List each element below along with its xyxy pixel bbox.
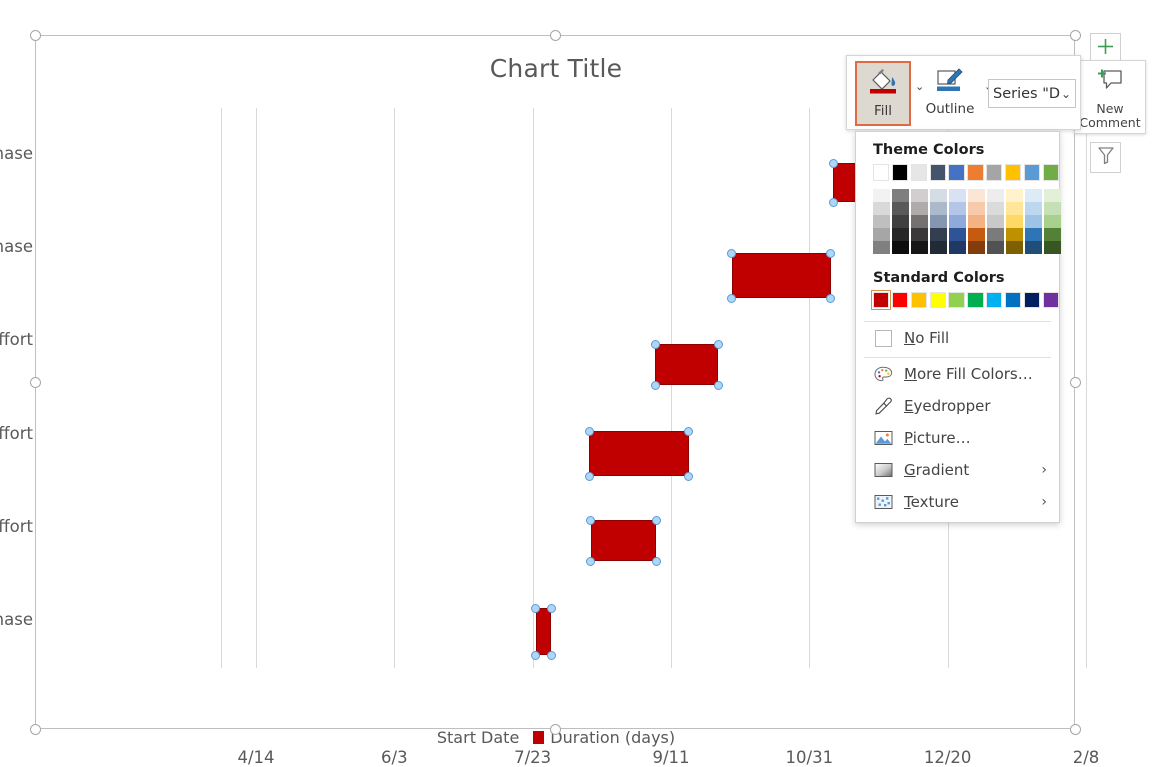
theme-tint-swatch[interactable] [1006,228,1023,241]
theme-tint-swatch[interactable] [1025,228,1042,241]
legend-entry[interactable]: Start Date [437,728,519,747]
legend-label: Start Date [437,728,519,747]
theme-tint-swatch[interactable] [949,228,966,241]
selection-handle-w[interactable] [30,377,41,388]
data-point-handle[interactable] [531,651,540,660]
theme-tint-swatch[interactable] [873,228,890,241]
new-comment-label: New Comment [1079,102,1140,130]
theme-tint-swatch[interactable] [873,189,890,202]
theme-tint-column[interactable] [930,189,947,254]
theme-tint-column[interactable] [911,189,928,254]
data-point-handle[interactable] [652,516,661,525]
data-bar[interactable] [589,431,689,476]
gridline [256,108,257,668]
data-point-handle[interactable] [651,381,660,390]
data-point-handle[interactable] [714,340,723,349]
theme-color-swatch[interactable] [1024,164,1040,181]
submenu-arrow-icon: › [1041,494,1047,510]
theme-tint-swatch[interactable] [987,202,1004,215]
value-axis-tick-label: 2/8 [1041,748,1131,767]
gridline [671,108,672,668]
theme-tint-swatch[interactable] [1006,189,1023,202]
theme-color-swatch[interactable] [1005,164,1021,181]
standard-colors-title: Standard Colors [856,254,1059,292]
theme-tint-column[interactable] [949,189,966,254]
theme-tint-swatch[interactable] [1006,202,1023,215]
standard-colors-row[interactable] [856,292,1059,313]
value-axis-tick-label: 12/20 [903,748,993,767]
chart-filter-icon [1097,146,1115,170]
value-axis-tick-label: 9/11 [626,748,716,767]
theme-color-swatch[interactable] [930,164,946,181]
series-select-value: Series "Duratio [993,86,1061,102]
theme-color-swatch[interactable] [1043,164,1059,181]
outline-pen-icon [933,66,967,97]
theme-tint-swatch[interactable] [911,189,928,202]
theme-tint-swatch[interactable] [1006,241,1023,254]
theme-tint-swatch[interactable] [911,241,928,254]
new-comment-button[interactable]: New Comment [1074,60,1146,134]
theme-tint-swatch[interactable] [892,228,909,241]
theme-tint-swatch[interactable] [1025,189,1042,202]
standard-color-swatch[interactable] [1024,292,1040,309]
theme-tint-swatch[interactable] [949,202,966,215]
theme-tint-swatch[interactable] [987,241,1004,254]
theme-colors-title: Theme Colors [856,132,1059,164]
theme-color-swatch[interactable] [892,164,908,181]
theme-tint-swatch[interactable] [892,215,909,228]
menu-item-gradient[interactable]: Gradient › [856,454,1059,486]
menu-item-picture[interactable]: Picture… [856,422,1059,454]
standard-color-swatch[interactable] [948,292,964,309]
theme-color-swatch[interactable] [986,164,1002,181]
gradient-icon [873,461,893,479]
series-select[interactable]: Series "Duratio ⌄ [988,79,1076,108]
theme-tint-column[interactable] [1025,189,1042,254]
theme-tint-column[interactable] [1044,189,1061,254]
theme-tint-swatch[interactable] [911,202,928,215]
theme-tint-swatch[interactable] [987,215,1004,228]
theme-tint-swatch[interactable] [1025,215,1042,228]
category-axis-label: Phase 2 Work Effort [0,424,33,443]
theme-tint-swatch[interactable] [930,189,947,202]
theme-tint-swatch[interactable] [1006,215,1023,228]
data-point-handle[interactable] [585,427,594,436]
data-bar[interactable] [732,253,831,298]
gridline [533,108,534,668]
menu-item-label: Picture… [904,429,971,447]
data-point-handle[interactable] [714,381,723,390]
theme-tint-swatch[interactable] [968,241,985,254]
gridline [809,108,810,668]
theme-tint-swatch[interactable] [968,202,985,215]
data-point-handle[interactable] [585,472,594,481]
value-axis-tick-label: 7/23 [488,748,578,767]
selection-handle-sw[interactable] [30,724,41,735]
theme-tint-swatch[interactable] [949,241,966,254]
data-point-handle[interactable] [547,604,556,613]
data-point-handle[interactable] [547,651,556,660]
data-point-handle[interactable] [829,198,838,207]
theme-colors-row[interactable] [856,164,1059,181]
theme-tint-swatch[interactable] [930,215,947,228]
data-point-handle[interactable] [531,604,540,613]
theme-tint-column[interactable] [1006,189,1023,254]
data-point-handle[interactable] [826,249,835,258]
theme-tint-swatch[interactable] [968,189,985,202]
theme-tint-column[interactable] [987,189,1004,254]
fill-bucket-icon [866,68,900,99]
data-point-handle[interactable] [727,294,736,303]
selection-handle-e[interactable] [1070,377,1081,388]
legend-swatch [533,731,544,744]
theme-tint-swatch[interactable] [949,189,966,202]
theme-tint-swatch[interactable] [1025,202,1042,215]
theme-tint-swatch[interactable] [1044,241,1061,254]
theme-tint-swatch[interactable] [873,202,890,215]
category-axis-label: Testing Phase [0,237,33,256]
theme-tint-swatch[interactable] [1044,228,1061,241]
menu-item-eyedropper[interactable]: Eyedropper [856,390,1059,422]
theme-color-swatch[interactable] [948,164,964,181]
theme-tint-swatch[interactable] [1044,202,1061,215]
category-axis-line [221,108,222,668]
theme-tint-swatch[interactable] [911,215,928,228]
theme-tint-swatch[interactable] [949,215,966,228]
fill-label: Fill [874,103,892,119]
selection-handle-nw[interactable] [30,30,41,41]
palette-icon [873,365,893,383]
value-axis-tick-label: 4/14 [211,748,301,767]
theme-tint-swatch[interactable] [892,189,909,202]
theme-tint-column[interactable] [892,189,909,254]
theme-tint-swatch[interactable] [911,228,928,241]
theme-tint-swatch[interactable] [1025,241,1042,254]
data-point-handle[interactable] [586,516,595,525]
fill-button[interactable]: Fill [855,61,911,126]
menu-item-label: Eyedropper [904,397,991,415]
theme-tint-swatch[interactable] [987,228,1004,241]
chart-filters-button[interactable] [1090,142,1121,173]
theme-tint-swatch[interactable] [930,241,947,254]
data-point-handle[interactable] [829,159,838,168]
data-point-handle[interactable] [684,472,693,481]
theme-tint-swatch[interactable] [987,189,1004,202]
theme-tint-column[interactable] [873,189,890,254]
theme-tint-swatch[interactable] [968,228,985,241]
standard-color-swatch[interactable] [1005,292,1021,309]
data-bar[interactable] [655,344,718,385]
eyedropper-icon [873,397,893,415]
menu-item-label: More Fill Colors… [904,365,1033,383]
outline-button[interactable]: Outline [919,61,981,126]
menu-item-label: No Fill [904,329,949,347]
picture-icon [873,429,893,447]
gridline [394,108,395,668]
data-point-handle[interactable] [586,557,595,566]
category-axis-label: Preparatory Phase [0,610,33,629]
legend-label: Duration (days) [550,728,675,747]
submenu-arrow-icon: › [1041,462,1047,478]
data-point-handle[interactable] [684,427,693,436]
theme-tint-swatch[interactable] [968,215,985,228]
chevron-down-icon[interactable]: ⌄ [1061,87,1071,101]
data-point-handle[interactable] [652,557,661,566]
chart-elements-plus-icon [1096,37,1115,61]
standard-color-swatch[interactable] [930,292,946,309]
selection-handle-se[interactable] [1070,724,1081,735]
theme-color-swatch[interactable] [873,164,889,181]
category-axis-label: Delivery Phase [0,144,33,163]
standard-color-swatch[interactable] [892,292,908,309]
theme-tint-swatch[interactable] [892,202,909,215]
gridline [1086,108,1087,668]
selection-handle-s[interactable] [550,724,561,735]
value-axis-tick-label: 6/3 [349,748,439,767]
menu-item-texture[interactable]: Texture › [856,486,1059,518]
data-point-handle[interactable] [727,249,736,258]
category-axis-label: Phase 1 Work Effort [0,517,33,536]
standard-color-swatch[interactable] [986,292,1002,309]
theme-tint-swatch[interactable] [1044,189,1061,202]
fill-dropdown-menu[interactable]: Theme Colors Standard Colors No Fill Mor… [855,131,1060,523]
mini-format-toolbar[interactable]: Fill ⌄ Outline ⌄ Series "Duratio ⌄ [846,55,1081,130]
theme-color-swatch[interactable] [967,164,983,181]
standard-color-swatch[interactable] [967,292,983,309]
menu-item-more-fill-colors[interactable]: More Fill Colors… [856,358,1059,390]
data-point-handle[interactable] [651,340,660,349]
selection-handle-n[interactable] [550,30,561,41]
data-bar[interactable] [591,520,656,561]
value-axis-tick-label: 10/31 [764,748,854,767]
menu-item-no-fill[interactable]: No Fill [856,322,1059,354]
no-fill-icon [873,329,893,347]
texture-icon [873,493,893,511]
new-comment-icon [1096,67,1124,98]
theme-tint-swatch[interactable] [873,215,890,228]
theme-tint-swatch[interactable] [873,241,890,254]
standard-color-swatch[interactable] [873,292,889,309]
standard-color-swatch[interactable] [1043,292,1059,309]
selection-handle-ne[interactable] [1070,30,1081,41]
outline-label: Outline [926,101,975,117]
data-point-handle[interactable] [826,294,835,303]
category-axis-label: Phase 3 Work Effort [0,330,33,349]
theme-tint-swatch[interactable] [1044,215,1061,228]
theme-tint-swatch[interactable] [892,241,909,254]
data-bar[interactable] [536,608,551,655]
theme-color-swatch[interactable] [911,164,927,181]
theme-tint-swatch[interactable] [930,202,947,215]
menu-item-label: Gradient [904,461,969,479]
theme-tint-column[interactable] [968,189,985,254]
menu-item-label: Texture [904,493,959,511]
theme-tint-swatch[interactable] [930,228,947,241]
theme-color-tints-grid[interactable] [856,181,1059,254]
standard-color-swatch[interactable] [911,292,927,309]
